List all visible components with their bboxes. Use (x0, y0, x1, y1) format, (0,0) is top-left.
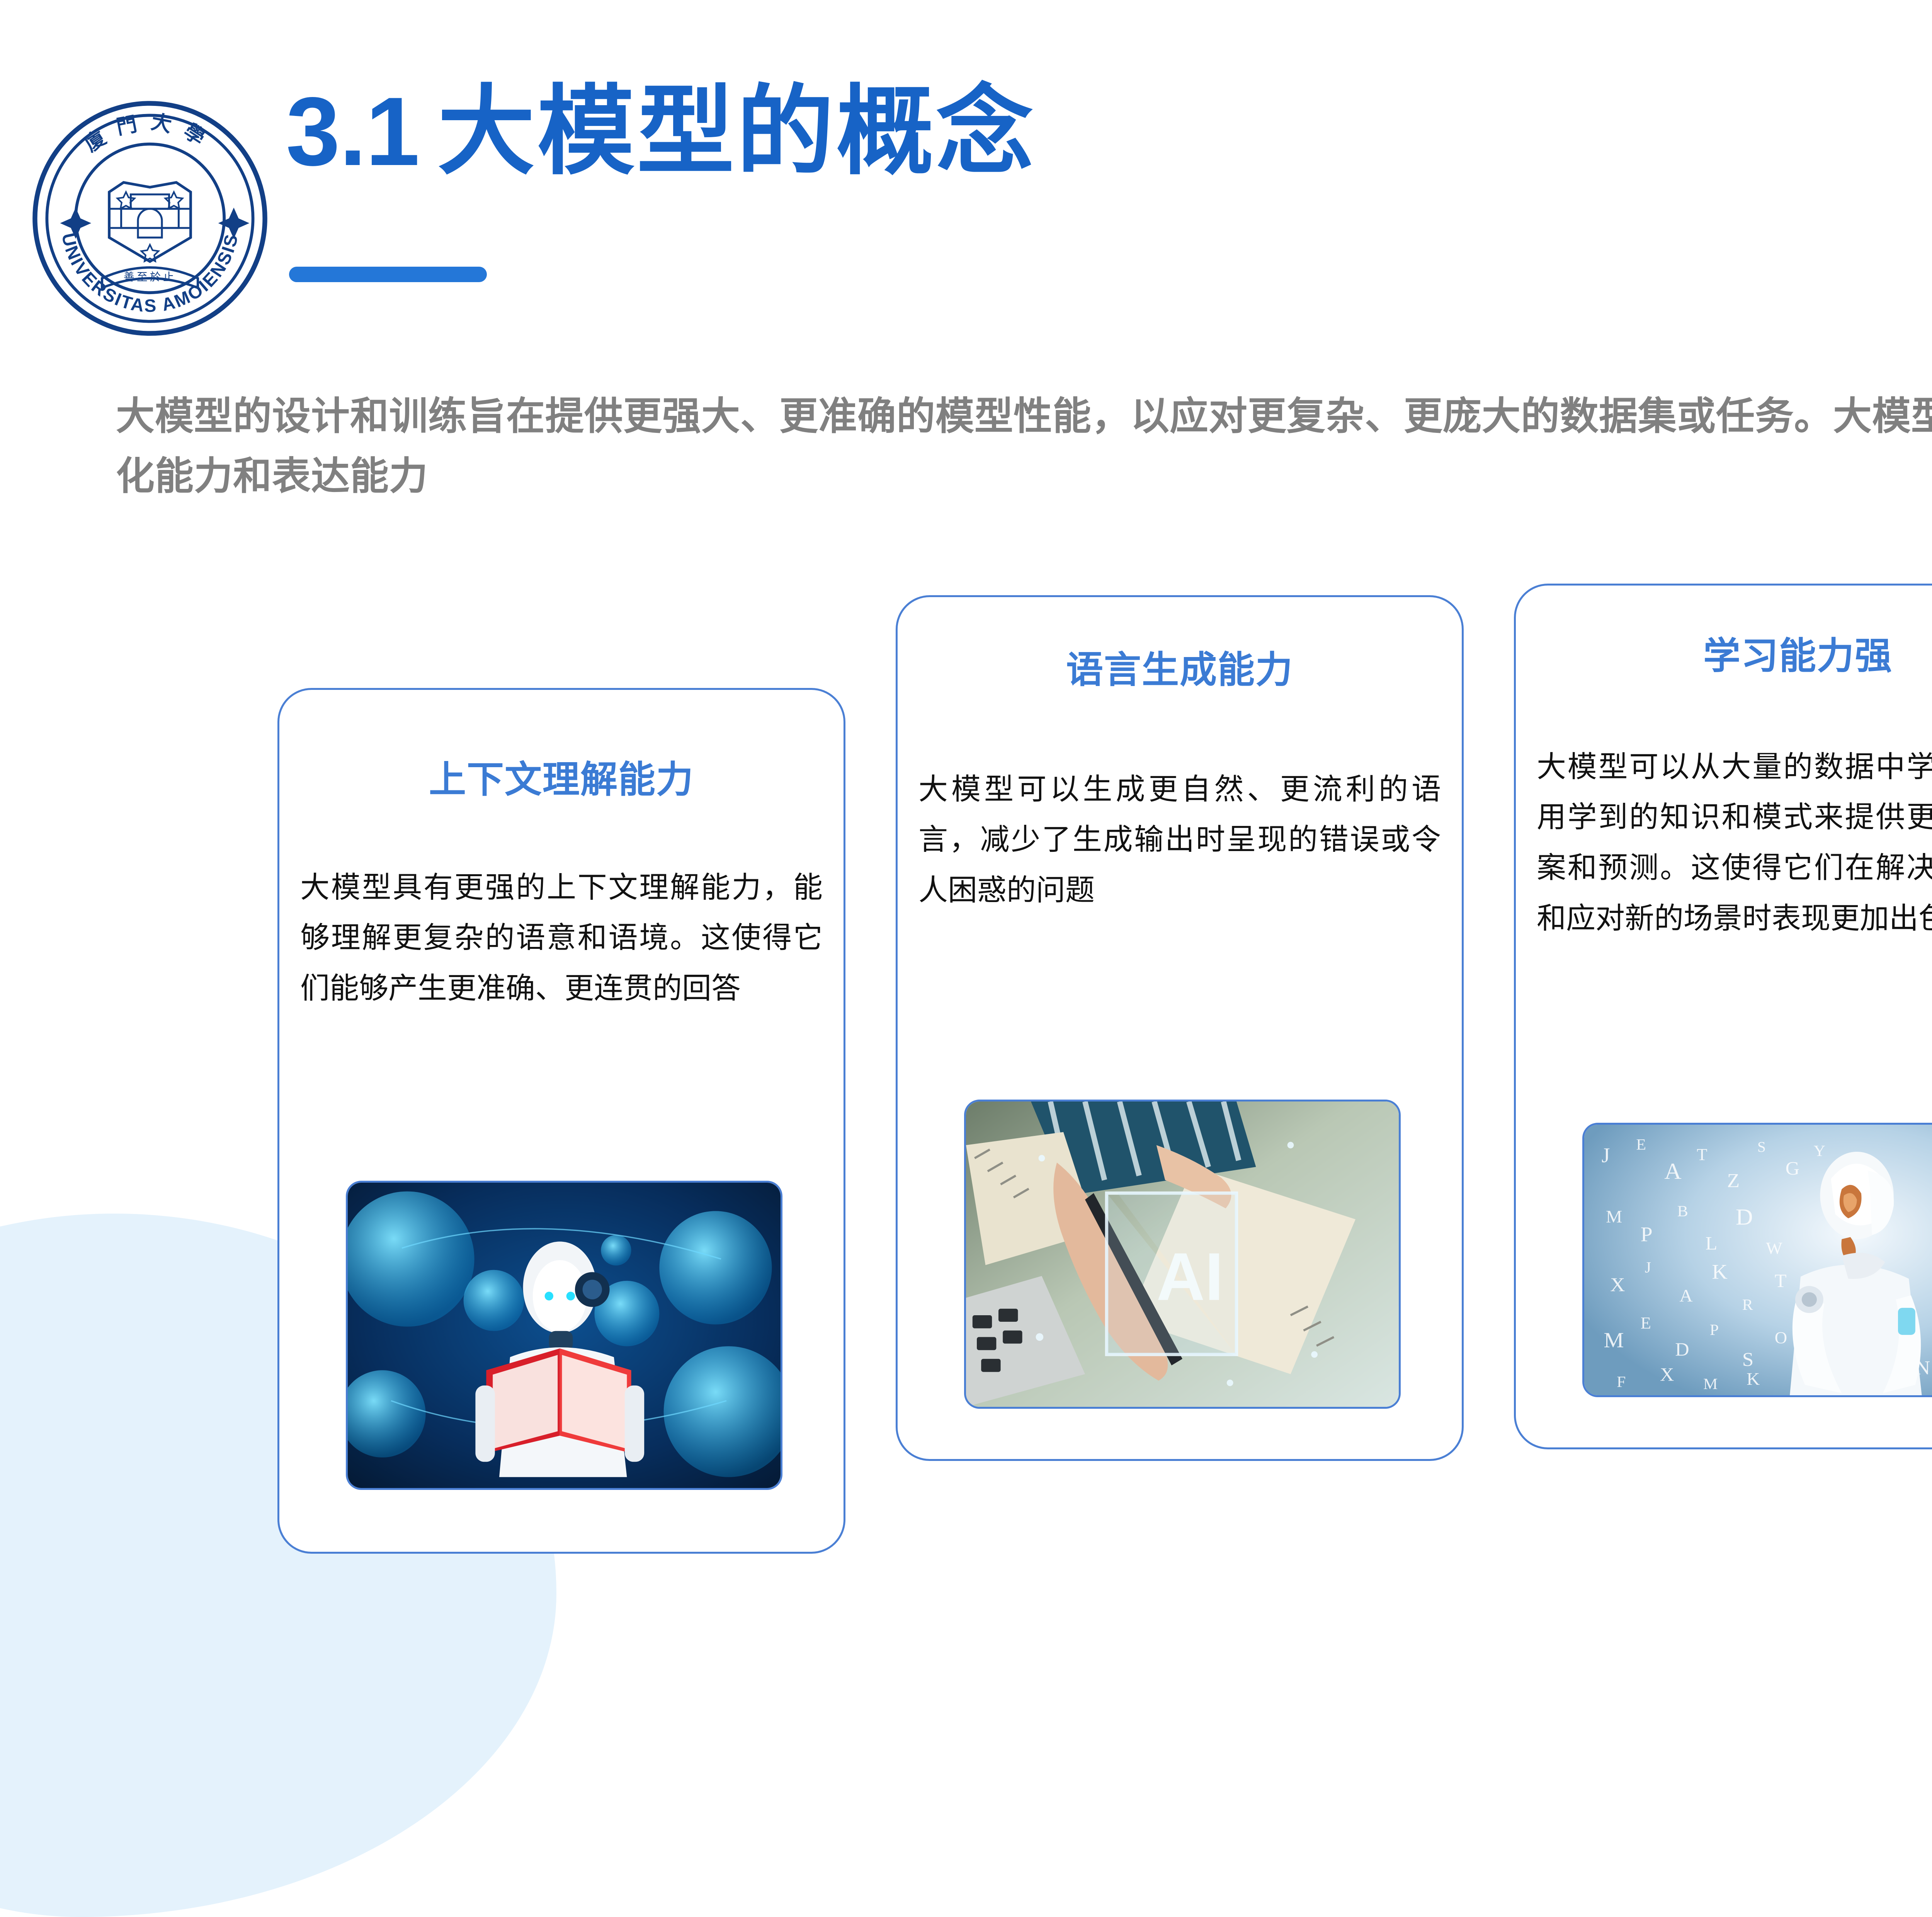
card-title: 语言生成能力 (1066, 650, 1293, 691)
svg-text:J: J (1602, 1144, 1610, 1167)
svg-text:M: M (1703, 1375, 1718, 1393)
svg-text:J: J (1645, 1258, 1651, 1276)
svg-text:P: P (1641, 1223, 1653, 1246)
svg-text:A: A (1679, 1286, 1693, 1306)
feature-card-context-understanding[interactable]: 上下文理解能力 大模型具有更强的上下文理解能力，能够理解更复杂的语意和语境。这使… (277, 688, 845, 1554)
svg-text:S: S (1757, 1139, 1766, 1155)
card-body: 大模型可以从大量的数据中学习，并利用学到的知识和模式来提供更精准的答案和预测。这… (1537, 742, 1932, 944)
svg-text:AI: AI (1156, 1239, 1224, 1314)
svg-text:D: D (1736, 1205, 1753, 1230)
robot-reading-red-book-photo (346, 1181, 782, 1490)
svg-text:P: P (1710, 1321, 1719, 1338)
feature-card-list: 上下文理解能力 大模型具有更强的上下文理解能力，能够理解更复杂的语意和语境。这使… (0, 0, 1932, 1670)
svg-text:L: L (1706, 1233, 1718, 1254)
svg-text:G: G (1786, 1158, 1799, 1179)
svg-text:X: X (1660, 1364, 1674, 1385)
svg-text:K: K (1747, 1369, 1760, 1389)
svg-text:Y: Y (1814, 1142, 1825, 1159)
card-title: 学习能力强 (1703, 636, 1893, 677)
thinking-robot-letters-photo: JE AT ZS GY MP BL DW XJ AK RT ME DP SO F… (1582, 1123, 1932, 1397)
svg-text:X: X (1610, 1274, 1625, 1296)
svg-text:D: D (1675, 1339, 1689, 1360)
svg-text:T: T (1775, 1270, 1787, 1291)
card-title: 上下文理解能力 (429, 759, 694, 800)
card-body: 大模型可以生成更自然、更流利的语言，减少了生成输出时呈现的错误或令人困惑的问题 (918, 764, 1441, 916)
svg-text:E: E (1641, 1314, 1651, 1332)
svg-text:Z: Z (1727, 1170, 1740, 1192)
svg-text:S: S (1742, 1349, 1754, 1371)
svg-text:A: A (1664, 1159, 1682, 1184)
card-body: 大模型具有更强的上下文理解能力，能够理解更复杂的语意和语境。这使得它们能够产生更… (300, 862, 823, 1014)
svg-text:B: B (1677, 1202, 1688, 1220)
svg-text:O: O (1775, 1328, 1787, 1347)
hand-writing-ai-hologram-photo: AI (964, 1100, 1401, 1409)
svg-text:K: K (1712, 1260, 1728, 1283)
svg-text:E: E (1636, 1136, 1646, 1153)
svg-text:W: W (1766, 1239, 1782, 1258)
svg-text:M: M (1604, 1328, 1624, 1352)
feature-card-language-generation[interactable]: 语言生成能力 大模型可以生成更自然、更流利的语言，减少了生成输出时呈现的错误或令… (896, 595, 1464, 1461)
feature-card-learning-ability[interactable]: 学习能力强 大模型可以从大量的数据中学习，并利用学到的知识和模式来提供更精准的答… (1514, 584, 1932, 1449)
svg-text:M: M (1606, 1207, 1622, 1227)
svg-text:R: R (1742, 1296, 1753, 1313)
svg-text:T: T (1697, 1145, 1708, 1164)
svg-text:F: F (1617, 1373, 1626, 1390)
